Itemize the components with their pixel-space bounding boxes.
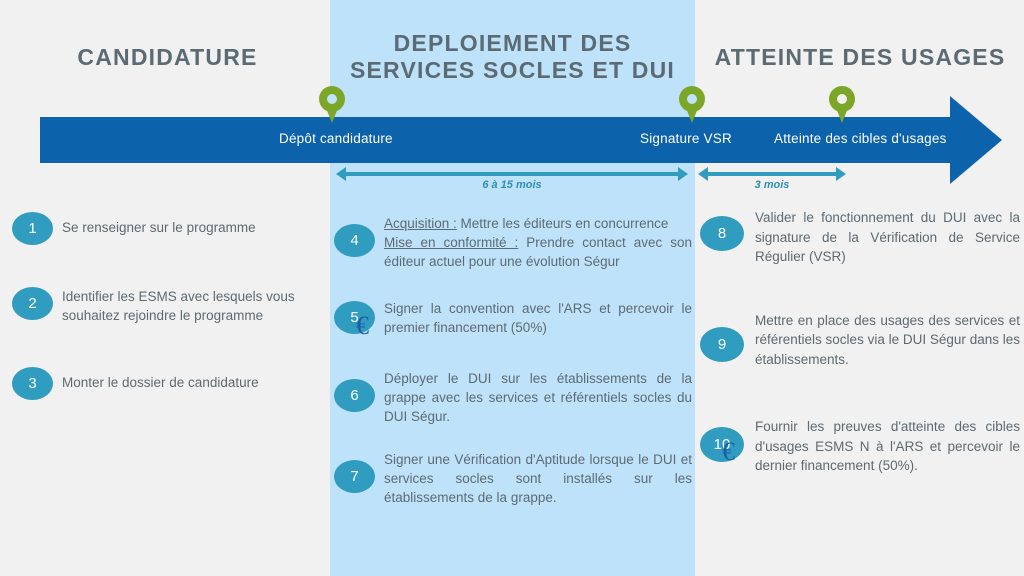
step-text: Signer une Vérification d'Aptitude lorsq… (384, 450, 692, 507)
step-text: Mettre en place des usages des services … (755, 311, 1020, 370)
step-item: 1 Se renseigner sur le programme (12, 212, 332, 245)
step-text-segment: Mettre les éditeurs en concurrence (457, 216, 669, 231)
step-item: 7 Signer une Vérification d'Aptitude lor… (334, 450, 692, 507)
step-text: Acquisition : Mettre les éditeurs en con… (384, 214, 692, 271)
arrow-line (707, 172, 837, 176)
step-number-badge: 2 (12, 287, 53, 320)
step-number-badge: 5 € (334, 301, 375, 334)
map-pin-icon-atteinte-cibles (829, 86, 855, 123)
steps-column-deploiement: 4 Acquisition : Mettre les éditeurs en c… (334, 208, 692, 507)
map-pin-hole (837, 94, 847, 104)
timeline-label-atteinte-cibles: Atteinte des cibles d'usages (774, 131, 947, 146)
step-text-emphasis: Mise en conformité : (384, 235, 518, 250)
arrow-line (345, 172, 679, 176)
phase-title-candidature: CANDIDATURE (30, 44, 305, 71)
timeline-label-depot-candidature: Dépôt candidature (279, 131, 393, 146)
step-text: Déployer le DUI sur les établissements d… (384, 369, 692, 426)
phase-title-deploiement: DEPLOIEMENT DES SERVICES SOCLES ET DUI (335, 30, 690, 84)
step-text: Monter le dossier de candidature (62, 367, 259, 392)
map-pin-icon-signature-vsr (679, 86, 705, 123)
step-item: 9 Mettre en place des usages des service… (700, 311, 1020, 370)
step-text: Identifier les ESMS avec lesquels vous s… (62, 287, 332, 325)
step-item: 3 Monter le dossier de candidature (12, 367, 332, 400)
phase-title-atteinte: ATTEINTE DES USAGES (700, 44, 1020, 71)
step-item: 5 € Signer la convention avec l'ARS et p… (334, 299, 692, 337)
step-number-badge: 7 (334, 460, 375, 493)
step-number-badge: 9 (700, 327, 744, 362)
step-text: Se renseigner sur le programme (62, 212, 256, 237)
map-pin-hole (327, 94, 337, 104)
step-text: Valider le fonctionnement du DUI avec la… (755, 208, 1020, 267)
step-number-badge: 8 (700, 216, 744, 251)
step-item: 2 Identifier les ESMS avec lesquels vous… (12, 287, 332, 325)
step-item: 8 Valider le fonctionnement du DUI avec … (700, 208, 1020, 267)
euro-icon: € (356, 313, 369, 339)
step-item: 4 Acquisition : Mettre les éditeurs en c… (334, 214, 692, 271)
infographic-canvas: CANDIDATURE DEPLOIEMENT DES SERVICES SOC… (0, 0, 1024, 576)
steps-column-atteinte: 8 Valider le fonctionnement du DUI avec … (700, 200, 1020, 476)
step-text: Signer la convention avec l'ARS et perce… (384, 299, 692, 337)
step-number-badge: 1 (12, 212, 53, 245)
step-text-emphasis: Acquisition : (384, 216, 457, 231)
duration-label: 3 mois (698, 179, 846, 191)
step-text: Fournir les preuves d'atteinte des cible… (755, 417, 1020, 476)
step-number-badge: 4 (334, 224, 375, 257)
map-pin-hole (687, 94, 697, 104)
step-number-badge: 6 (334, 379, 375, 412)
duration-label: 6 à 15 mois (336, 179, 688, 191)
euro-icon: € (722, 439, 735, 465)
step-item: 6 Déployer le DUI sur les établissements… (334, 369, 692, 426)
steps-column-candidature: 1 Se renseigner sur le programme 2 Ident… (12, 208, 332, 400)
timeline-label-signature-vsr: Signature VSR (640, 131, 732, 146)
step-number-badge: 10 € (700, 427, 744, 462)
map-pin-icon-depot-candidature (319, 86, 345, 123)
step-number-badge: 3 (12, 367, 53, 400)
duration-arrow-deploiement: 6 à 15 mois (336, 166, 688, 194)
duration-arrow-atteinte: 3 mois (698, 166, 846, 194)
timeline-arrowhead-icon (950, 96, 1002, 184)
step-item: 10 € Fournir les preuves d'atteinte des … (700, 417, 1020, 476)
